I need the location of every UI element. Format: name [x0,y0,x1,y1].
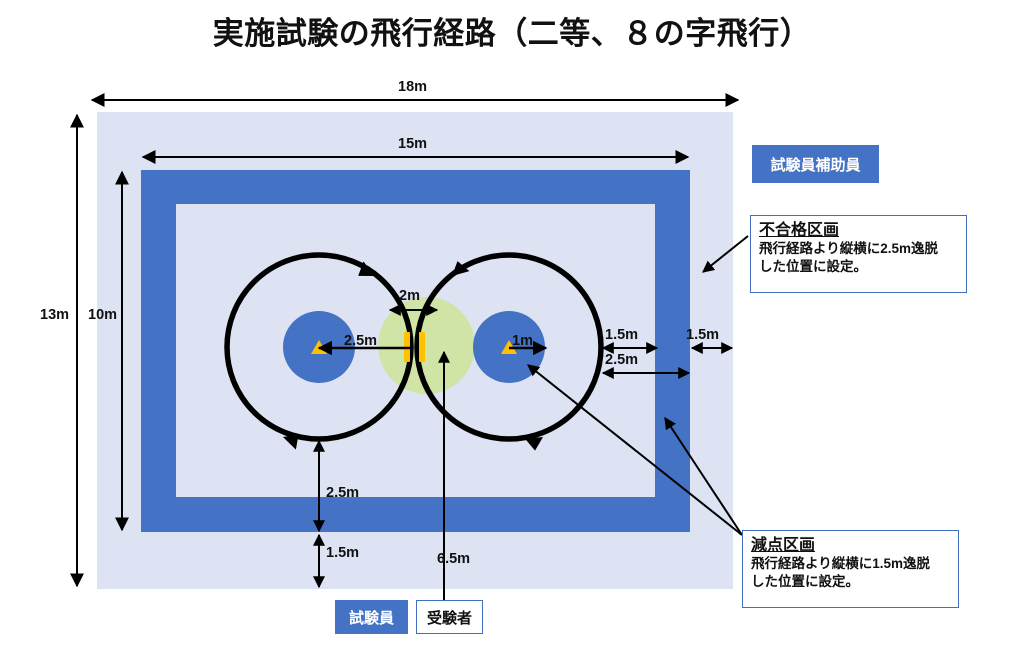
callout-fail-zone: 不合格区画 飛行経路より縦横に2.5m逸脱 した位置に設定。 [750,215,967,293]
dim-right-outer: 1.5m [686,327,719,343]
gate-bar-left [404,332,410,362]
dim-height-band: 10m [88,307,117,323]
callout-fail-title: 不合格区画 [759,221,959,240]
label-examiner: 試験員 [335,600,408,634]
dim-center-to-gate: 2.5m [344,333,377,349]
dim-width-outer: 18m [398,79,427,95]
dim-width-band: 15m [398,136,427,152]
drone-marker-left [311,340,327,354]
label-assistant: 試験員補助員 [752,145,879,183]
dim-right-inner: 1.5m [605,327,638,343]
diagram-canvas: 実施試験の飛行経路（二等、８の字飛行） [0,0,1024,669]
callout-fail-line1: 飛行経路より縦横に2.5m逸脱 [759,241,959,257]
callout-deduct-title: 減点区画 [751,536,951,555]
callout-deduction-zone: 減点区画 飛行経路より縦横に1.5m逸脱 した位置に設定。 [742,530,959,608]
gate-bar-right [419,332,425,362]
dim-bottom-inner: 2.5m [326,485,359,501]
dim-bottom-outer: 1.5m [326,545,359,561]
label-candidate: 受験者 [416,600,483,634]
crossing-zone-circle [378,297,475,394]
callout-fail-line2: した位置に設定。 [759,259,959,275]
page-title: 実施試験の飛行経路（二等、８の字飛行） [0,8,1024,53]
dim-height-outer: 13m [40,307,69,323]
callout-deduct-line2: した位置に設定。 [751,574,951,590]
dim-right-span: 2.5m [605,352,638,368]
dim-gate-width: 2m [399,288,420,304]
callout-deduct-line1: 飛行経路より縦横に1.5m逸脱 [751,556,951,572]
dim-circle-radius: 1m [512,333,533,349]
dim-pilot-distance: 6.5m [437,551,470,567]
